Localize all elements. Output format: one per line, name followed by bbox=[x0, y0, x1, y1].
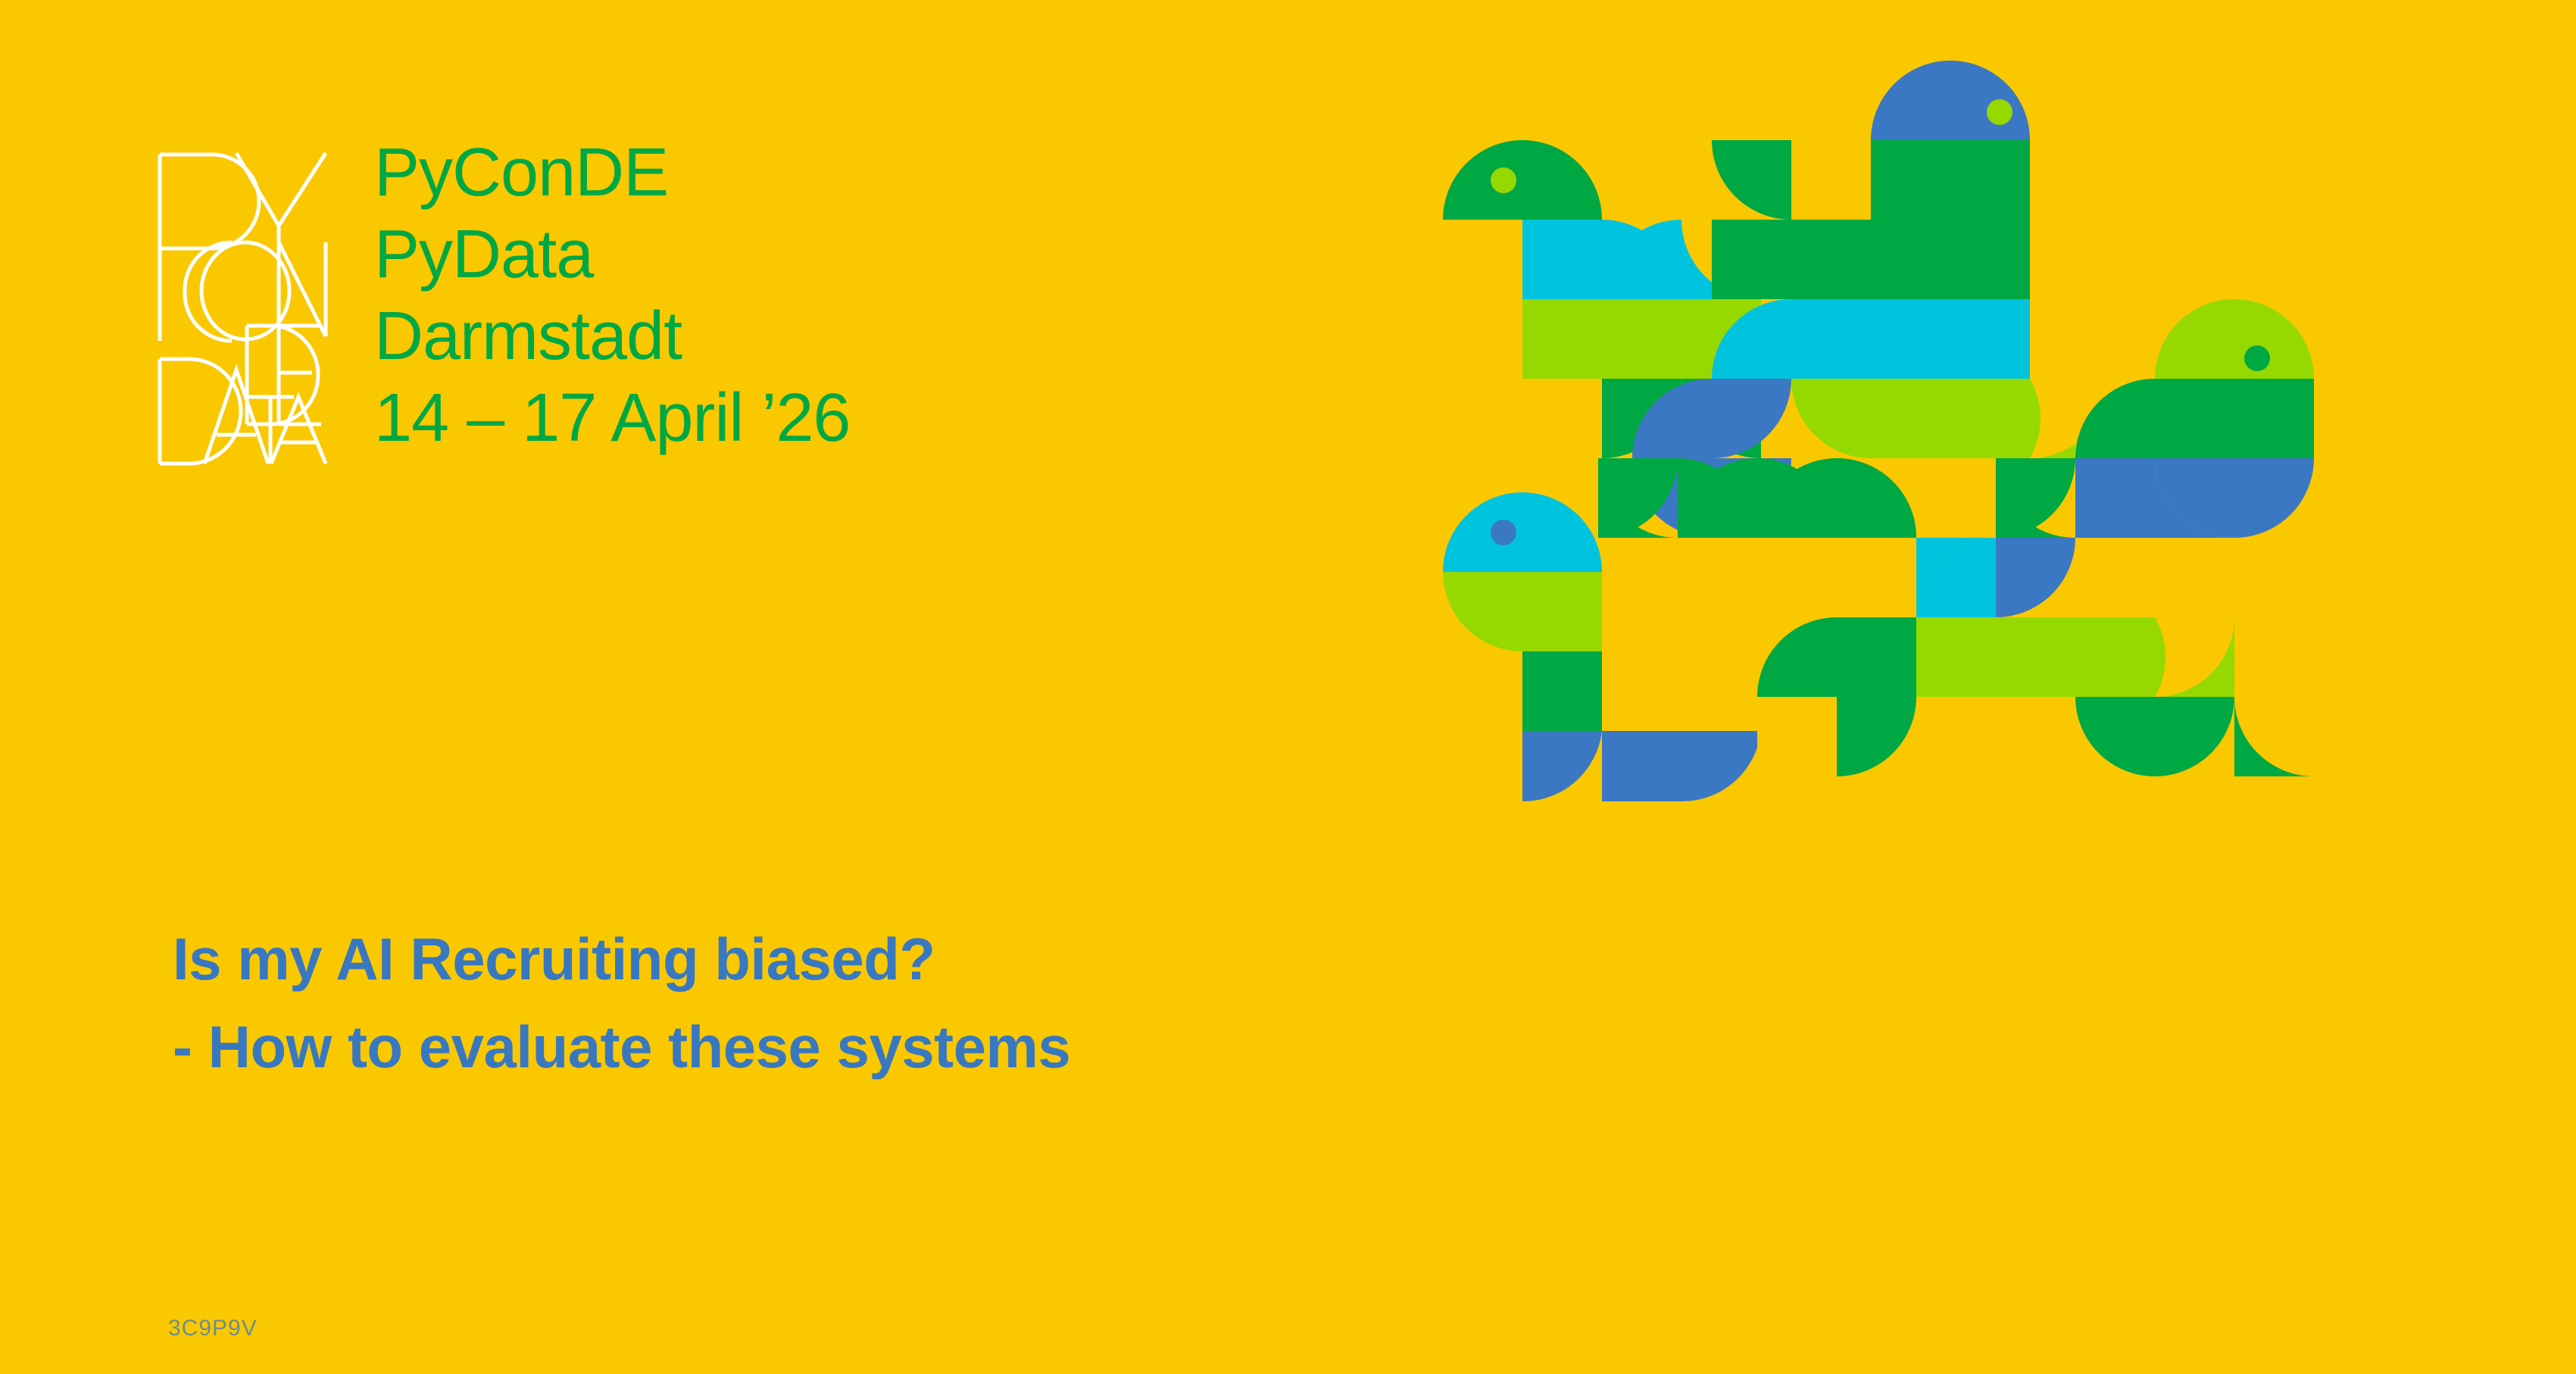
bird-eye bbox=[1491, 520, 1516, 545]
event-line-city: Darmstadt bbox=[374, 295, 850, 377]
pycon-de-pydata-monogram-icon bbox=[158, 142, 329, 467]
pattern-green-wings bbox=[1598, 458, 2155, 538]
pycon-birds-pattern bbox=[1439, 44, 2314, 801]
bird-eye bbox=[2244, 345, 2270, 371]
event-info: PyConDE PyData Darmstadt 14 – 17 April ’… bbox=[374, 132, 850, 459]
talk-title-line-1: Is my AI Recruiting biased? bbox=[173, 915, 1070, 1003]
event-line-pydata: PyData bbox=[374, 214, 850, 295]
event-line-pyconde: PyConDE bbox=[374, 132, 850, 214]
bird-bottom-left bbox=[1443, 492, 1761, 801]
pattern-lower-shapes bbox=[1757, 538, 2314, 776]
session-code: 3C9P9V bbox=[168, 1316, 258, 1341]
event-line-dates: 14 – 17 April ’26 bbox=[374, 377, 850, 459]
bird-eye bbox=[1491, 167, 1516, 193]
bird-right bbox=[2075, 299, 2314, 538]
bird-eye bbox=[1987, 99, 2012, 125]
brand-header: PyConDE PyData Darmstadt 14 – 17 April ’… bbox=[158, 142, 850, 467]
talk-title-line-2: - How to evaluate these systems bbox=[173, 1003, 1070, 1091]
talk-title: Is my AI Recruiting biased? - How to eva… bbox=[173, 915, 1070, 1091]
